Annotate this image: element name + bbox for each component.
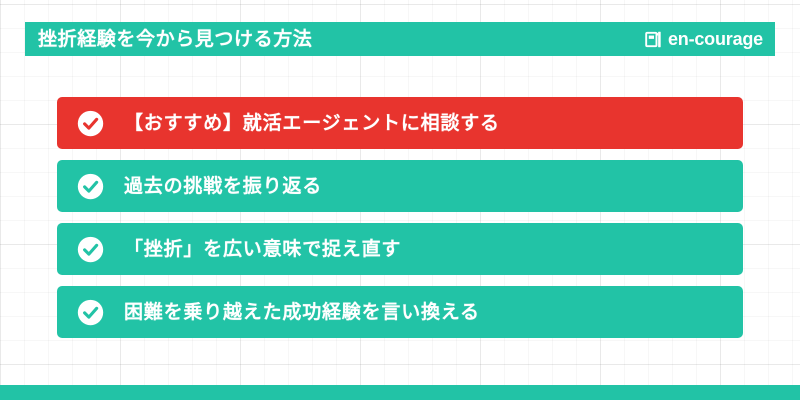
list-item[interactable]: 【おすすめ】就活エージェントに相談する [57, 97, 743, 149]
slide-canvas: 挫折経験を今から見つける方法 en-courage 【おすすめ [0, 0, 800, 400]
check-circle-icon [76, 235, 105, 264]
list-item[interactable]: 過去の挑戦を振り返る [57, 160, 743, 212]
list-item-label: 「挫折」を広い意味で捉え直す [124, 240, 401, 259]
list-item-label: 過去の挑戦を振り返る [124, 177, 322, 196]
brand-name: en-courage [668, 30, 763, 48]
header-bar: 挫折経験を今から見つける方法 en-courage [25, 22, 775, 56]
check-circle-icon [76, 172, 105, 201]
check-circle-icon [76, 109, 105, 138]
list-item[interactable]: 困難を乗り越えた成功経験を言い換える [57, 286, 743, 338]
page-title: 挫折経験を今から見つける方法 [38, 30, 312, 49]
method-list: 【おすすめ】就活エージェントに相談する 過去の挑戦を振り返る 「挫折」を広い意味… [57, 97, 743, 338]
footer-bar [0, 385, 800, 400]
list-item-label: 困難を乗り越えた成功経験を言い換える [124, 303, 480, 322]
check-circle-icon [76, 298, 105, 327]
book-flag-icon [645, 30, 664, 49]
list-item[interactable]: 「挫折」を広い意味で捉え直す [57, 223, 743, 275]
brand-logo: en-courage [645, 30, 763, 49]
list-item-label: 【おすすめ】就活エージェントに相談する [124, 114, 500, 133]
